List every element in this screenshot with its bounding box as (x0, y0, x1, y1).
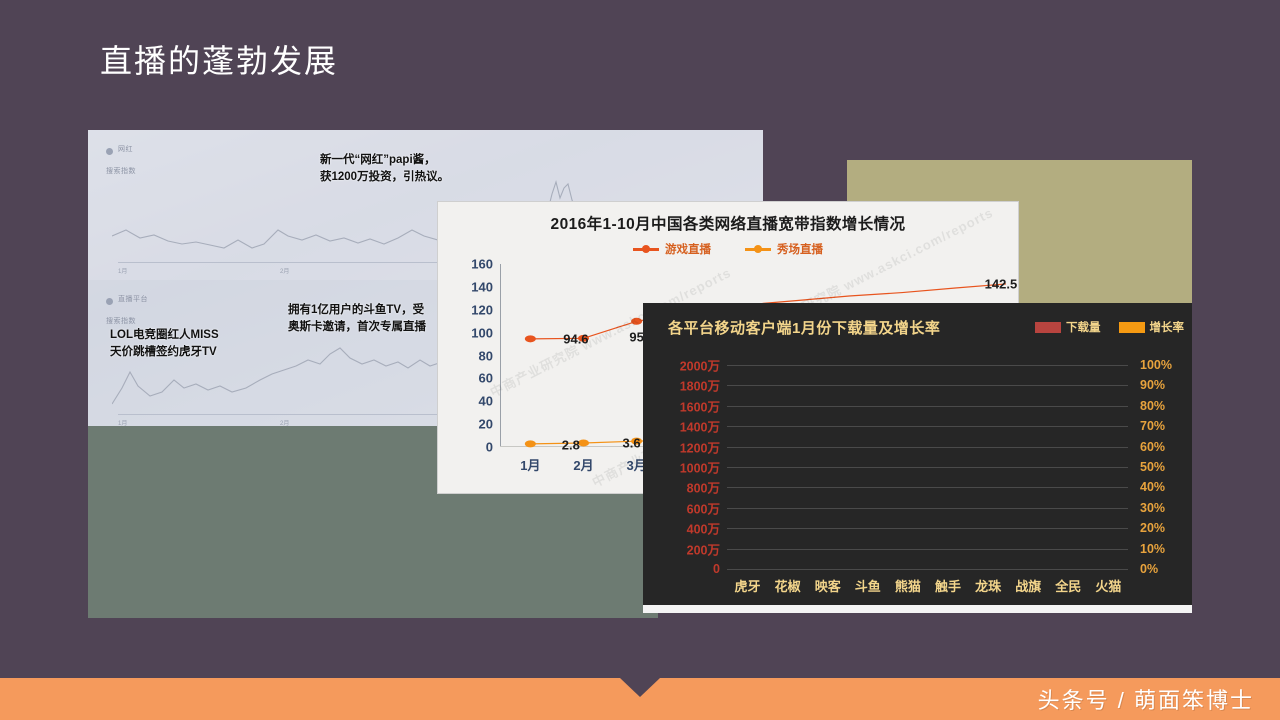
footer-notch-icon (620, 678, 660, 697)
left-y-tick: 200万 (687, 539, 720, 558)
x-tick: 2月 (573, 455, 593, 474)
legend-item-game-live: 游戏直播 (633, 241, 711, 257)
page-title: 直播的蓬勃发展 (100, 36, 338, 82)
bottom-strip (643, 605, 1192, 613)
right-y-tick: 70% (1140, 419, 1165, 433)
data-label: 3.6 (623, 436, 641, 451)
gridline (727, 426, 1128, 427)
data-label: 2.8 (562, 438, 580, 453)
gridline (727, 467, 1128, 468)
right-y-tick: 30% (1140, 501, 1165, 515)
footer-author: 头条号 / 萌面笨博士 (1038, 683, 1254, 715)
gridline (727, 406, 1128, 407)
bar-category-label: 全民 (1055, 576, 1081, 595)
bar-category-label: 斗鱼 (855, 576, 881, 595)
index-panel-top-legend: 网红 (118, 144, 133, 154)
left-y-tick: 600万 (687, 498, 720, 517)
gridline (727, 508, 1128, 509)
bar-category-label: 火猫 (1095, 576, 1121, 595)
x-label: 2月 (280, 266, 289, 275)
bar-category-label: 熊猫 (895, 576, 921, 595)
legend-label: 游戏直播 (665, 241, 711, 257)
left-y-tick: 1400万 (680, 417, 720, 436)
left-y-tick: 1600万 (680, 396, 720, 415)
annotation-miss: LOL电竞圈红人MISS天价跳槽签约虎牙TV (110, 327, 219, 360)
y-tick: 60 (479, 371, 493, 386)
bar-category-label: 虎牙 (734, 576, 760, 595)
annotation-papi: 新一代“网红”papi酱，获1200万投资，引热议。 (320, 152, 449, 185)
bar-chart-legend: 下载量 增长率 (1035, 319, 1184, 335)
legend-label: 秀场直播 (777, 241, 823, 257)
legend-item-show-live: 秀场直播 (745, 241, 823, 257)
legend-label: 下载量 (1066, 322, 1101, 334)
gridline (727, 549, 1128, 550)
legend-swatch-icon (1035, 322, 1061, 333)
gridline (727, 528, 1128, 529)
y-tick: 120 (471, 302, 493, 317)
series-dot-icon (106, 148, 113, 155)
right-y-tick: 50% (1140, 460, 1165, 474)
gridline (727, 365, 1128, 366)
gridline (727, 385, 1128, 386)
line-chart-legend: 游戏直播 秀场直播 (438, 241, 1018, 257)
x-label: 2月 (280, 418, 289, 426)
left-y-tick: 1800万 (680, 376, 720, 395)
y-tick: 100 (471, 325, 493, 340)
y-tick: 140 (471, 279, 493, 294)
left-y-tick: 1000万 (680, 458, 720, 477)
bar-category-label: 龙珠 (975, 576, 1001, 595)
y-tick: 0 (486, 440, 493, 455)
bar-chart-plot-area: 0 200万 400万 600万 800万 1000万 1200万 1400万 … (727, 365, 1128, 569)
index-panel-top-sub: 搜索指数 (106, 166, 136, 176)
y-tick: 40 (479, 394, 493, 409)
y-tick: 20 (479, 417, 493, 432)
bar-category-label: 映客 (815, 576, 841, 595)
gridline (727, 447, 1128, 448)
right-y-tick: 100% (1140, 358, 1172, 372)
line-chart-title: 2016年1-10月中国各类网络直播宽带指数增长情况 (438, 212, 1018, 234)
series-dot-icon (106, 298, 113, 305)
index-panel-bottom-legend: 直播平台 (118, 294, 148, 304)
legend-swatch-icon (1119, 322, 1145, 333)
bar-category-label: 触手 (935, 576, 961, 595)
annotation-douyu: 拥有1亿用户的斗鱼TV，受奥斯卡邀请，首次专属直播 (288, 302, 426, 335)
x-tick: 1月 (520, 455, 540, 474)
right-y-tick: 0% (1140, 562, 1158, 576)
bar-chart-screenshot: 各平台移动客户端1月份下载量及增长率 下载量 增长率 0 200万 400万 (643, 303, 1192, 613)
data-label: 142.5 (985, 277, 1018, 292)
left-y-tick: 1200万 (680, 437, 720, 456)
left-y-tick: 800万 (687, 478, 720, 497)
right-y-tick: 90% (1140, 378, 1165, 392)
legend-label: 增长率 (1150, 322, 1185, 334)
right-y-tick: 20% (1140, 521, 1165, 535)
bar-category-label: 战旗 (1015, 576, 1041, 595)
data-label: 95 (629, 330, 643, 345)
right-y-tick: 10% (1140, 542, 1165, 556)
gridline (727, 569, 1128, 570)
bar-category-label: 花椒 (775, 576, 801, 595)
left-y-tick: 2000万 (680, 356, 720, 375)
left-y-tick: 400万 (687, 519, 720, 538)
x-label: 1月 (118, 266, 127, 275)
x-label: 1月 (118, 418, 127, 426)
legend-item-downloads: 下载量 (1035, 319, 1101, 335)
legend-swatch-icon (633, 248, 659, 251)
y-tick: 160 (471, 257, 493, 272)
legend-item-growth: 增长率 (1119, 319, 1185, 335)
slide-root: 直播的蓬勃发展 网红 搜索指数 直播平台 搜索指数 1月 2月 3月 4月 1月… (0, 0, 1280, 720)
bar-chart-title: 各平台移动客户端1月份下载量及增长率 (668, 317, 940, 338)
index-panel-bottom-sub: 搜索指数 (106, 316, 136, 326)
footer-bar: 头条号 / 萌面笨博士 (0, 678, 1280, 720)
gridline (727, 487, 1128, 488)
right-y-tick: 80% (1140, 399, 1165, 413)
legend-swatch-icon (745, 248, 771, 251)
right-y-tick: 40% (1140, 480, 1165, 494)
right-y-tick: 60% (1140, 440, 1165, 454)
data-label: 94.6 (563, 332, 588, 347)
y-tick: 80 (479, 348, 493, 363)
left-y-tick: 0 (713, 562, 720, 576)
